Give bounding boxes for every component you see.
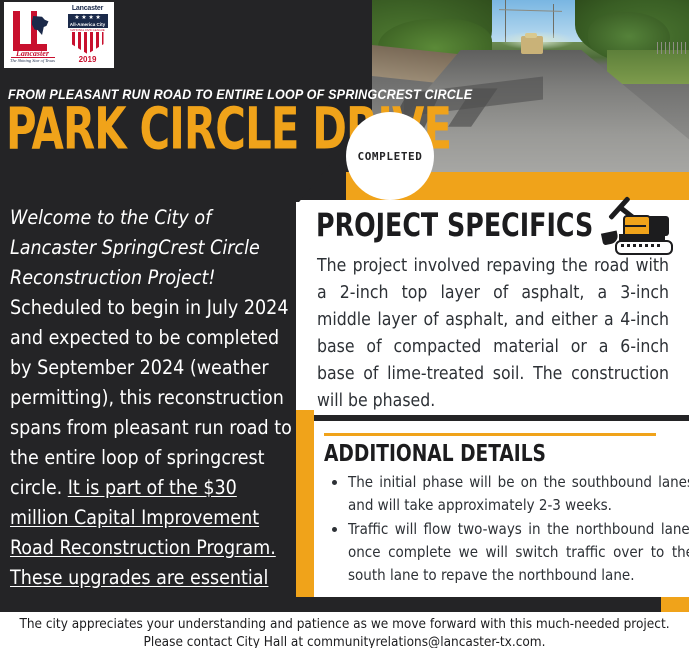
- project-specifics-body: The project involved repaving the road w…: [317, 253, 669, 415]
- project-specifics-panel: PROJECT SPECIFICS The project involved r…: [296, 200, 689, 415]
- project-update-flyer: Lancaster The Shining Star of Texas Lanc…: [0, 0, 689, 648]
- photo-roller-vehicle: [521, 36, 543, 53]
- photo-fence: [657, 42, 686, 54]
- excavator-cab-line: [624, 225, 646, 227]
- intro-text: Welcome to the City of Lancaster SpringC…: [10, 203, 297, 648]
- photo-grass-right: [607, 50, 689, 85]
- logo-city-tagline: The Shining Star of Texas: [9, 58, 57, 63]
- all-america-city-logo: Lancaster ★ ★ ★ ★ All-America City NATIO…: [64, 4, 112, 66]
- intro-lead: Welcome to the City of Lancaster SpringC…: [10, 206, 260, 289]
- list-item: The initial phase will be on the southbo…: [348, 471, 689, 517]
- bottom-orange-block: [661, 597, 689, 612]
- details-orange-accent: [296, 410, 314, 600]
- award-logo-year: 2019: [64, 55, 112, 64]
- photo-roller-cab: [525, 33, 538, 39]
- lancaster-city-logo: Lancaster The Shining Star of Texas: [7, 5, 59, 65]
- additional-details-panel: ADDITIONAL DETAILS The initial phase wil…: [296, 421, 689, 597]
- logo-city-name: Lancaster: [9, 49, 57, 58]
- intro-body: Scheduled to begin in July 2024 and expe…: [10, 296, 292, 499]
- excavator-icon: [601, 200, 683, 256]
- bottom-dark-bar: [0, 597, 689, 612]
- award-shield-icon: [72, 32, 104, 54]
- list-item: Traffic will flow two-ways in the northb…: [348, 518, 689, 587]
- additional-details-list: The initial phase will be on the southbo…: [326, 471, 689, 588]
- excavator-track-treads: [621, 244, 663, 247]
- award-logo-subtext: NATIONAL CIVIC LEAGUE: [68, 28, 108, 32]
- award-logo-stars: ★ ★ ★ ★: [68, 14, 108, 22]
- footer: The city appreciates your understanding …: [0, 612, 689, 648]
- footer-line-2: Please contact City Hall at communityrel…: [0, 633, 689, 648]
- status-badge-label: COMPLETED: [357, 150, 422, 163]
- stars-glyph: ★ ★ ★ ★: [74, 15, 101, 21]
- logo-card: Lancaster The Shining Star of Texas Lanc…: [4, 2, 114, 68]
- footer-line-1: The city appreciates your understanding …: [0, 615, 689, 633]
- details-top-rule: [324, 433, 656, 436]
- status-badge: COMPLETED: [346, 112, 434, 200]
- additional-details-heading: ADDITIONAL DETAILS: [324, 441, 546, 467]
- award-logo-title: Lancaster: [64, 5, 112, 12]
- project-specifics-heading: PROJECT SPECIFICS: [316, 208, 593, 242]
